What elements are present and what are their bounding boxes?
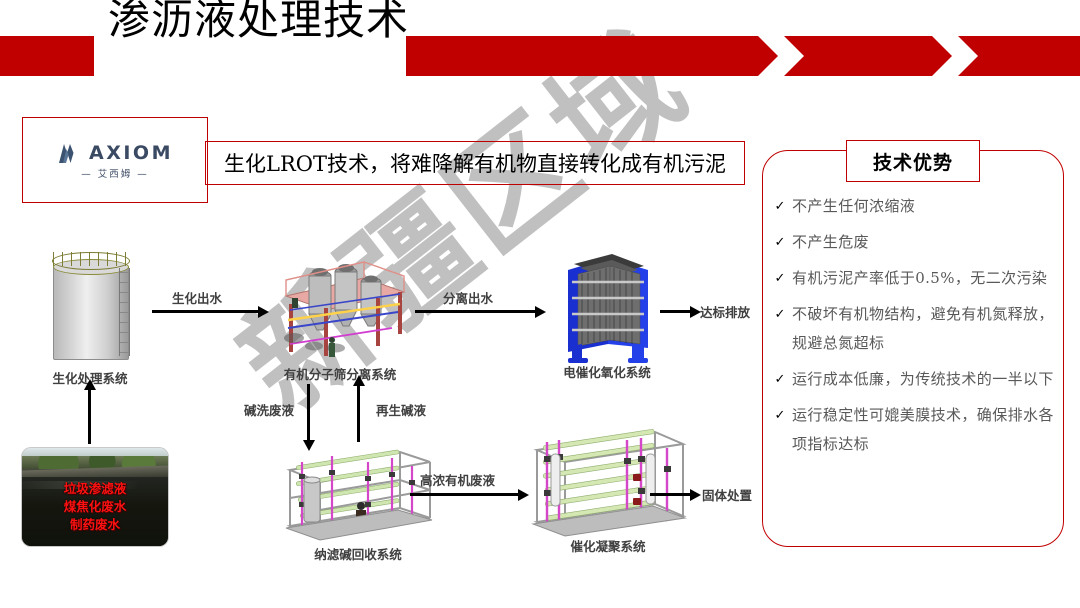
flow-arrow-catalytic-out	[650, 493, 692, 496]
flow-arrow-sieve-to-electro	[415, 310, 537, 313]
flow-arrow-nano-to-sieve	[357, 384, 360, 442]
source-photo-line: 垃圾渗滤液	[22, 480, 168, 498]
header-accent-block-left	[0, 36, 94, 76]
check-icon: ✓	[768, 228, 792, 257]
check-icon: ✓	[768, 365, 792, 394]
flow-label-sieve-to-electro: 分离出水	[443, 288, 493, 307]
advantage-item: ✓ 运行成本低廉，为传统技术的一半以下	[768, 365, 1060, 394]
technology-banner-text: 生化LROT技术，将难降解有机物直接转化成有机污泥	[224, 148, 726, 178]
advantages-title: 技术优势	[846, 140, 980, 182]
header-chevron-1	[406, 36, 778, 76]
advantage-text: 运行成本低廉，为传统技术的一半以下	[792, 365, 1054, 394]
slide-canvas: 新疆区域 渗沥液处理技术 AXIOM — 艾西姆 —	[0, 0, 1080, 608]
advantage-item: ✓ 不产生任何浓缩液	[768, 192, 1060, 221]
check-icon: ✓	[768, 300, 792, 329]
flow-node-nanofilter: 纳滤碱回收系统	[272, 440, 444, 560]
advantage-item: ✓ 有机污泥产率低于0.5%，无二次污染	[768, 264, 1060, 293]
advantage-text: 不破坏有机物结构，避免有机氮释放，规避总氮超标	[792, 300, 1060, 358]
flow-arrow-photo-to-bio	[88, 388, 91, 444]
logo-subtitle: — 艾西姆 —	[81, 166, 149, 180]
flow-node-electro-caption: 电催化氧化系统	[563, 362, 651, 381]
flow-arrow-sieve-to-nano	[307, 384, 310, 442]
advantage-text: 不产生危废	[792, 228, 869, 257]
source-wastewater-photo: 垃圾渗滤液 煤焦化废水 制药废水	[22, 448, 168, 546]
advantages-list: ✓ 不产生任何浓缩液 ✓ 不产生危废 ✓ 有机污泥产率低于0.5%，无二次污染 …	[768, 192, 1060, 466]
flow-node-sieve: 有机分子筛分离系统	[272, 252, 408, 382]
advantage-text: 运行稳定性可媲美膜技术，确保排水各项指标达标	[792, 401, 1060, 459]
advantage-item: ✓ 不产生危废	[768, 228, 1060, 257]
molecular-sieve-plant-icon	[272, 252, 408, 364]
header-chevron-3	[958, 36, 1080, 76]
flow-arrow-bio-to-sieve	[152, 310, 260, 313]
check-icon: ✓	[768, 264, 792, 293]
header-chevron-group	[406, 36, 1080, 76]
flow-label-electro-out: 达标排放	[700, 302, 750, 321]
flow-arrow-electro-out	[660, 310, 692, 313]
flow-label-bio-to-sieve: 生化出水	[172, 288, 222, 307]
advantage-item: ✓ 运行稳定性可媲美膜技术，确保排水各项指标达标	[768, 401, 1060, 459]
electrocatalytic-stack-icon	[552, 248, 662, 364]
flow-node-sieve-caption: 有机分子筛分离系统	[284, 364, 397, 383]
check-icon: ✓	[768, 401, 792, 430]
flow-node-electro: 电催化氧化系统	[552, 248, 662, 380]
flow-node-nanofilter-caption: 纳滤碱回收系统	[314, 544, 402, 563]
logo-wordmark: AXIOM	[89, 142, 173, 164]
source-photo-line: 煤焦化废水	[22, 498, 168, 516]
flow-label-nano-to-sieve: 再生碱液	[376, 400, 426, 419]
page-title: 渗沥液处理技术	[108, 0, 409, 49]
axiom-m-mark-icon	[57, 141, 83, 165]
storage-tank-icon	[47, 250, 133, 362]
source-photo-labels: 垃圾渗滤液 煤焦化废水 制药废水	[22, 480, 168, 534]
advantage-text: 不产生任何浓缩液	[792, 192, 915, 221]
flow-label-catalytic-out: 固体处置	[702, 485, 752, 504]
flow-label-sieve-to-nano: 碱洗废液	[244, 400, 294, 419]
flow-arrow-nano-to-catalytic	[410, 493, 520, 496]
company-logo-box: AXIOM — 艾西姆 —	[22, 117, 208, 203]
nanofiltration-skid-icon	[272, 440, 444, 544]
advantage-text: 有机污泥产率低于0.5%，无二次污染	[792, 264, 1047, 293]
advantage-item: ✓ 不破坏有机物结构，避免有机氮释放，规避总氮超标	[768, 300, 1060, 358]
header-chevron-2	[784, 36, 952, 76]
catalytic-coagulation-skid-icon	[515, 428, 701, 544]
flow-node-bio: 生化处理系统	[47, 250, 133, 380]
flow-label-nano-to-catalytic: 高浓有机废液	[420, 470, 495, 489]
technology-banner: 生化LROT技术，将难降解有机物直接转化成有机污泥	[205, 141, 745, 185]
source-photo-line: 制药废水	[22, 516, 168, 534]
check-icon: ✓	[768, 192, 792, 221]
flow-node-catalytic-caption: 催化凝聚系统	[570, 536, 645, 555]
